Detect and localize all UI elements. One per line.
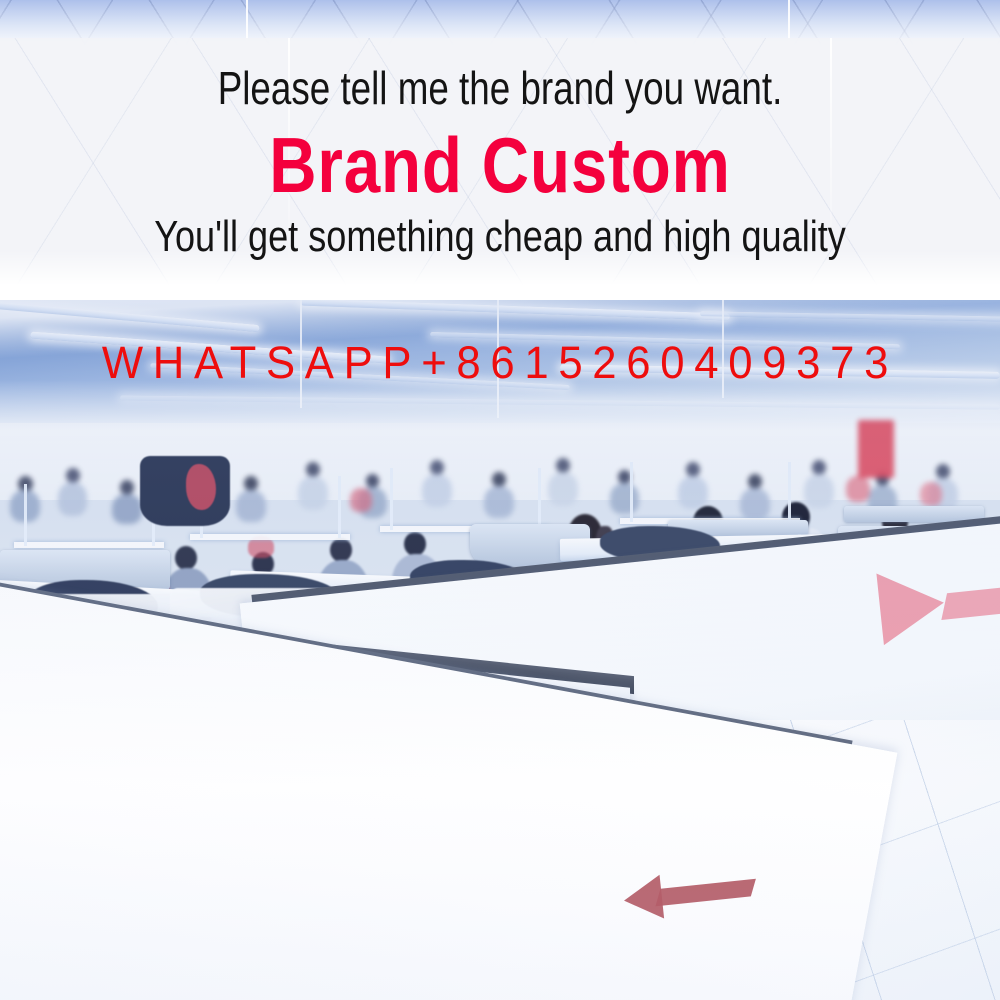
- hanging-garment: [140, 456, 230, 526]
- tagline-primary: Please tell me the brand you want.: [100, 62, 900, 114]
- headline-brand-custom: Brand Custom: [80, 122, 920, 208]
- counter-arrow-icon: [876, 567, 947, 645]
- rack-leg: [788, 462, 791, 522]
- rack-leg: [24, 484, 27, 546]
- whatsapp-contact-overlay: WHATSAPP+8615260409373: [15, 338, 985, 388]
- rack-leg: [538, 468, 541, 530]
- rack-leg: [630, 462, 633, 522]
- work-rack: [190, 534, 350, 540]
- work-rack: [14, 542, 164, 548]
- floor-arrow-head: [622, 875, 664, 923]
- rack-leg: [338, 476, 341, 538]
- tagline-secondary: You'll get something cheap and high qual…: [90, 212, 910, 262]
- promo-banner: Please tell me the brand you want. Brand…: [0, 0, 1000, 1000]
- rack-leg: [390, 468, 393, 530]
